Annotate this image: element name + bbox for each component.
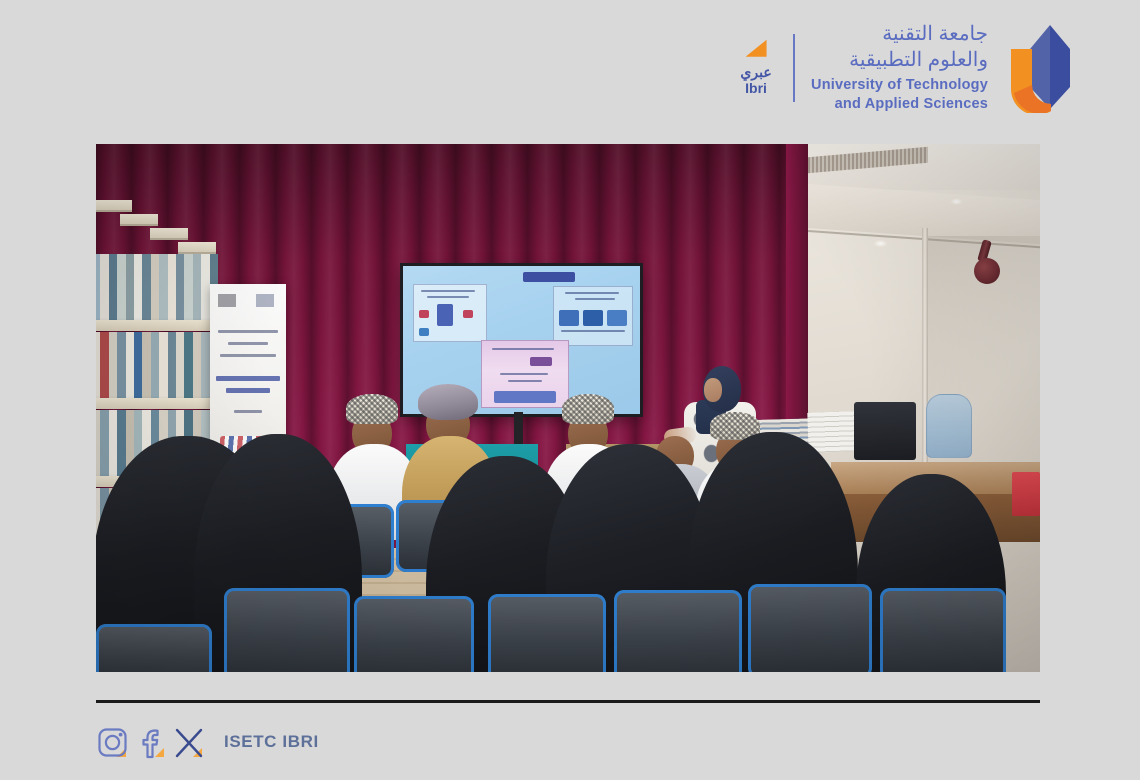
social-icons-group bbox=[96, 726, 206, 760]
chair bbox=[354, 596, 474, 672]
campus-name-english: Ibri bbox=[745, 80, 767, 97]
university-name-arabic-line1: جامعة التقنية bbox=[882, 22, 988, 48]
presenter-face bbox=[704, 378, 722, 402]
chair bbox=[748, 584, 872, 672]
campus-sub-brand: عبري Ibri bbox=[729, 40, 789, 97]
slide-title-banner bbox=[523, 272, 575, 282]
social-handle-label: ISETC IBRI bbox=[224, 732, 319, 752]
utas-brand-lockup: عبري Ibri جامعة التقنية والعلوم التطبيقي… bbox=[729, 22, 1074, 114]
chair bbox=[96, 624, 212, 672]
photo-scene bbox=[96, 144, 1040, 672]
chair bbox=[880, 588, 1006, 672]
slide-poster-center bbox=[481, 340, 569, 408]
footer-divider bbox=[96, 700, 1040, 703]
header-brand-bar: عبري Ibri جامعة التقنية والعلوم التطبيقي… bbox=[0, 0, 1140, 144]
paper-stack bbox=[807, 411, 856, 453]
printer bbox=[854, 402, 916, 460]
kummah-cap-icon bbox=[562, 394, 614, 424]
university-name-arabic-line2: والعلوم التطبيقية bbox=[849, 48, 988, 74]
book-spines bbox=[96, 332, 218, 404]
university-name-english-line2: and Applied Sciences bbox=[835, 95, 988, 114]
ceiling-light-icon bbox=[874, 240, 887, 247]
turban-icon bbox=[418, 384, 478, 420]
orange-triangle-icon bbox=[746, 40, 767, 57]
footer-social-bar: ISETC IBRI bbox=[96, 726, 319, 760]
instagram-icon[interactable] bbox=[96, 726, 130, 760]
book-spines bbox=[96, 254, 218, 326]
chair bbox=[614, 590, 742, 672]
chair bbox=[224, 588, 350, 672]
university-name-english-line1: University of Technology bbox=[811, 76, 988, 95]
water-cooler bbox=[926, 394, 972, 458]
chair bbox=[488, 594, 606, 672]
kummah-cap-icon bbox=[346, 394, 398, 424]
university-name-block: جامعة التقنية والعلوم التطبيقية Universi… bbox=[811, 22, 988, 114]
facebook-icon[interactable] bbox=[134, 726, 168, 760]
tissue-box bbox=[1012, 472, 1040, 516]
fire-alarm-bell-icon bbox=[974, 258, 1000, 284]
event-photo bbox=[96, 144, 1040, 672]
utas-u-leaf-logo bbox=[1006, 23, 1074, 113]
brand-vertical-divider bbox=[793, 34, 795, 102]
campus-name-arabic: عبري bbox=[740, 64, 771, 80]
x-twitter-icon[interactable] bbox=[172, 726, 206, 760]
ceiling-light-icon bbox=[950, 198, 963, 205]
